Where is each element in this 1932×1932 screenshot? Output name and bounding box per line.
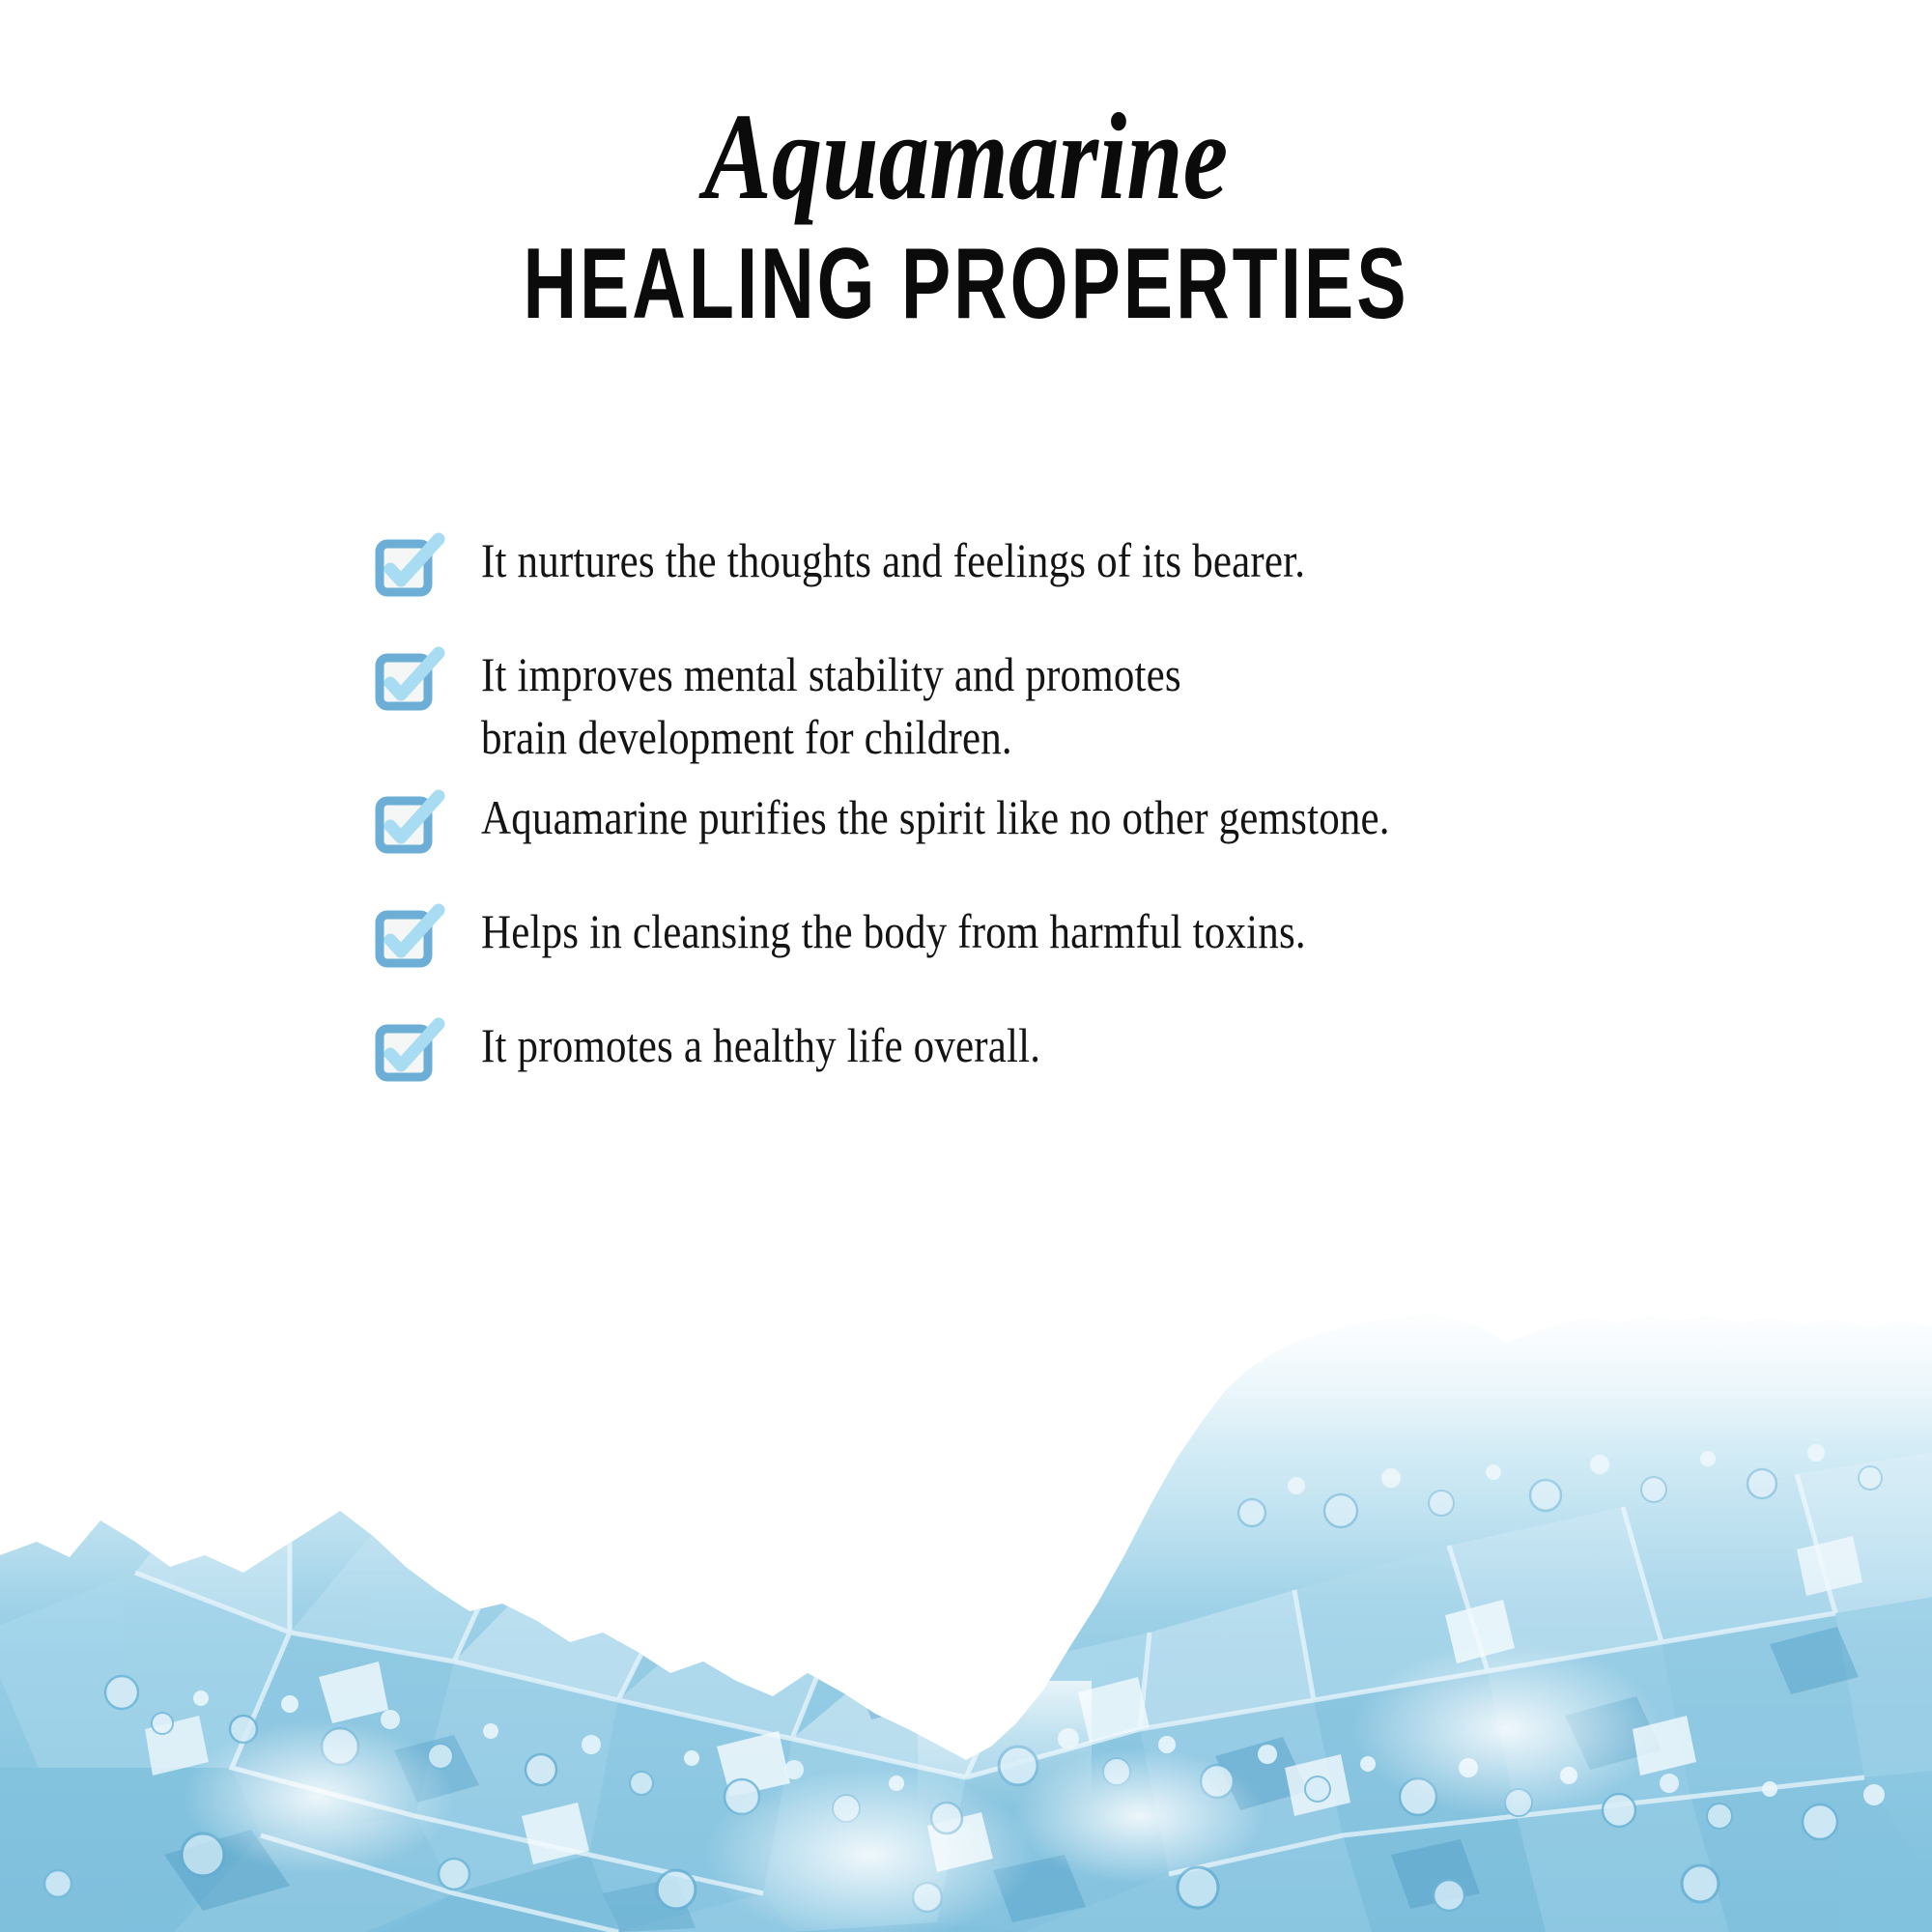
checked-checkbox-icon: [379, 1026, 435, 1082]
list-item: Helps in cleansing the body from harmful…: [379, 900, 1808, 968]
page-subtitle: HEALING PROPERTIES: [251, 218, 1681, 334]
healing-properties-list: It nurtures the thoughts and feelings of…: [379, 529, 1808, 1128]
ice-cubes-photo: [0, 1314, 1932, 1932]
list-item-label: It promotes a healthy life overall.: [481, 1014, 1040, 1077]
checked-checkbox-icon: [379, 541, 435, 597]
checked-checkbox-icon: [379, 912, 435, 968]
checked-checkbox-icon: [379, 798, 435, 854]
list-item-label: Helps in cleansing the body from harmful…: [481, 900, 1306, 963]
list-item-label: It improves mental stability and promote…: [481, 643, 1181, 769]
header: Aquamarine HEALING PROPERTIES: [0, 0, 1932, 334]
list-item: It promotes a healthy life overall.: [379, 1014, 1808, 1082]
list-item: Aquamarine purifies the spirit like no o…: [379, 786, 1808, 854]
page-title: Aquamarine: [174, 0, 1758, 218]
list-item: It nurtures the thoughts and feelings of…: [379, 529, 1808, 597]
list-item-label: Aquamarine purifies the spirit like no o…: [481, 786, 1390, 849]
list-item-label: It nurtures the thoughts and feelings of…: [481, 529, 1305, 592]
list-item: It improves mental stability and promote…: [379, 643, 1808, 769]
checked-checkbox-icon: [379, 655, 435, 711]
poster-canvas: Aquamarine HEALING PROPERTIES It nurture…: [0, 0, 1932, 1932]
